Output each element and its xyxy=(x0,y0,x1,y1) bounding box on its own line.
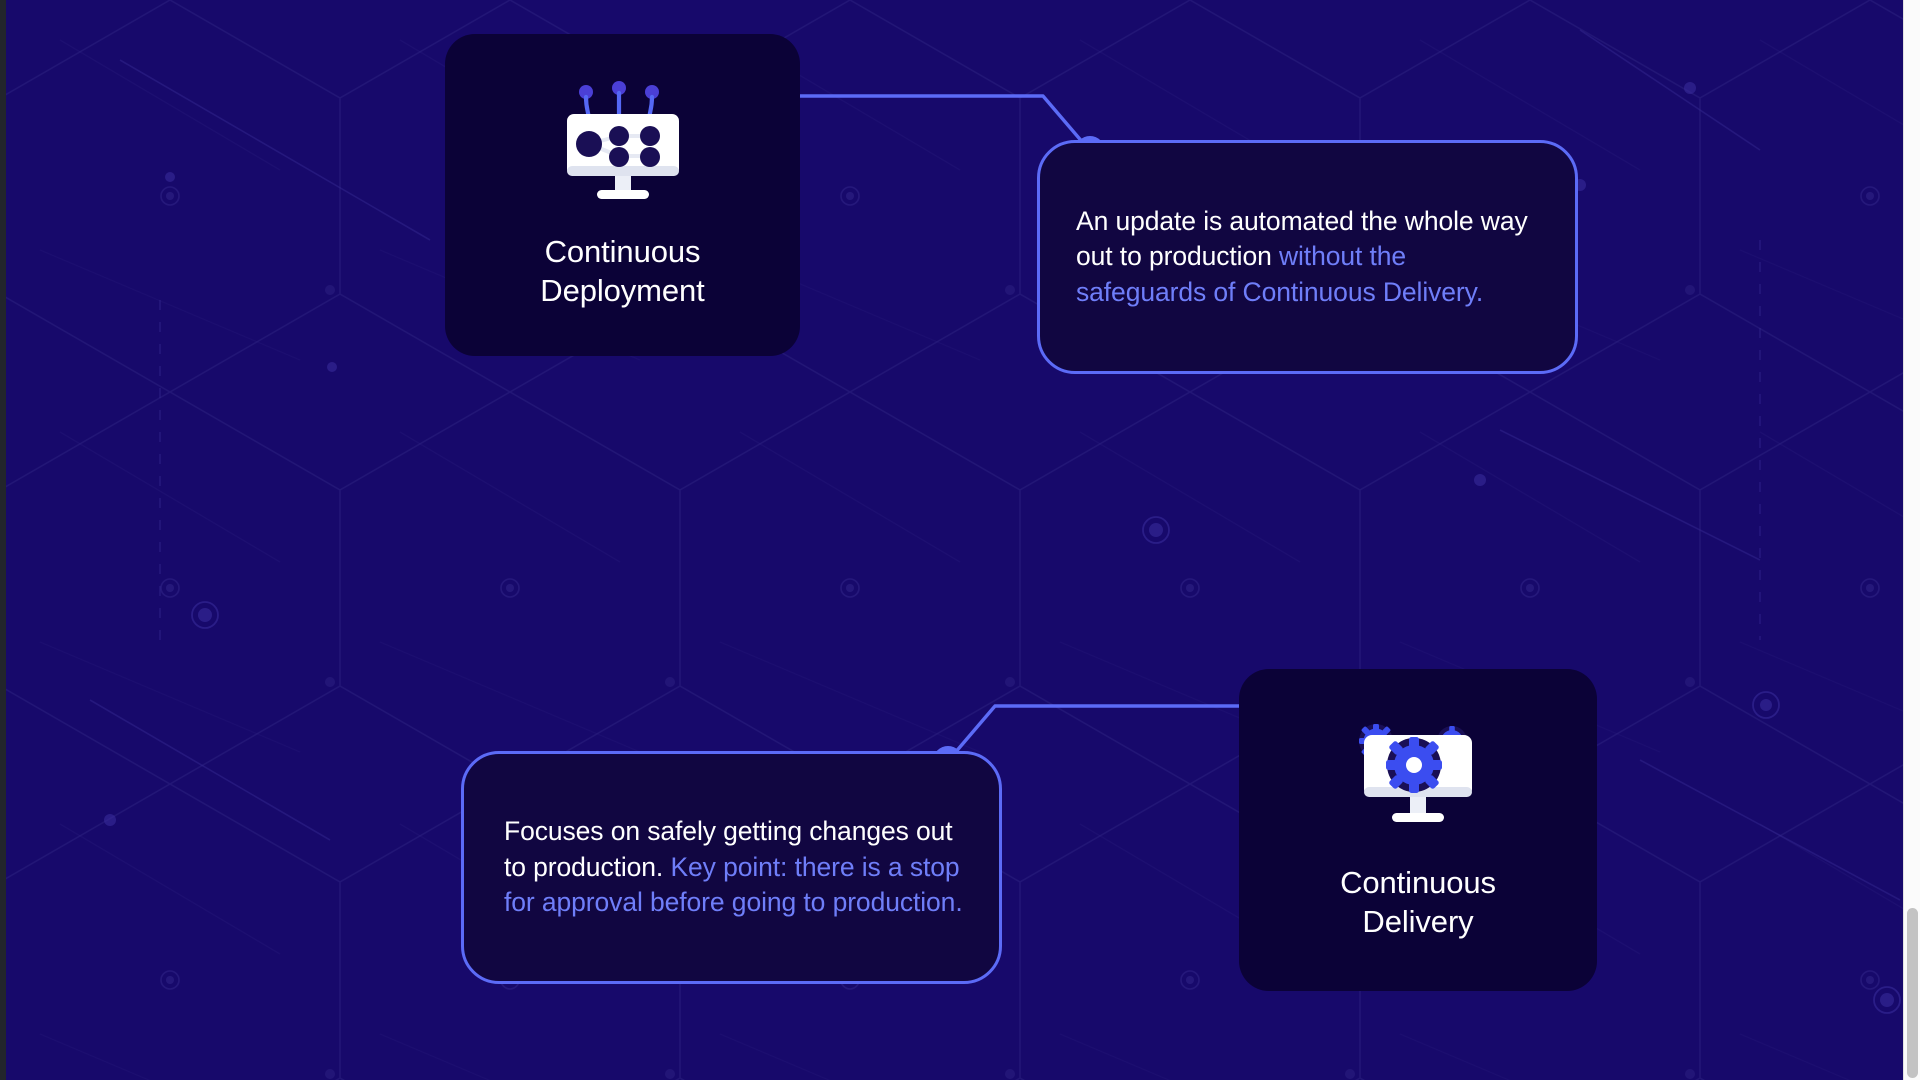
card-title-line2: Delivery xyxy=(1340,902,1496,941)
page-left-edge xyxy=(0,0,6,1080)
scrollbar-thumb[interactable] xyxy=(1907,908,1918,1078)
callout-text: An update is automated the whole way out… xyxy=(1040,204,1575,311)
vertical-scrollbar[interactable] xyxy=(1903,0,1920,1080)
card-title-line1: Continuous xyxy=(1340,863,1496,902)
callout-text: Focuses on safely getting changes out to… xyxy=(464,814,999,921)
monitor-gears-icon xyxy=(1356,719,1480,837)
callout-continuous-deployment[interactable]: An update is automated the whole way out… xyxy=(1037,140,1578,374)
card-title-line2: Deployment xyxy=(540,271,704,310)
card-title: Continuous Delivery xyxy=(1340,863,1496,941)
large-gear xyxy=(1386,737,1442,793)
callout-continuous-delivery[interactable]: Focuses on safely getting changes out to… xyxy=(461,751,1002,984)
card-continuous-deployment[interactable]: Continuous Deployment xyxy=(445,34,800,356)
card-continuous-delivery[interactable]: Continuous Delivery xyxy=(1239,669,1597,991)
diagram-canvas: Continuous Deployment An update is autom… xyxy=(0,0,1920,1080)
monitor-network-nodes-icon xyxy=(555,80,691,206)
card-title: Continuous Deployment xyxy=(540,232,704,310)
card-title-line1: Continuous xyxy=(540,232,704,271)
